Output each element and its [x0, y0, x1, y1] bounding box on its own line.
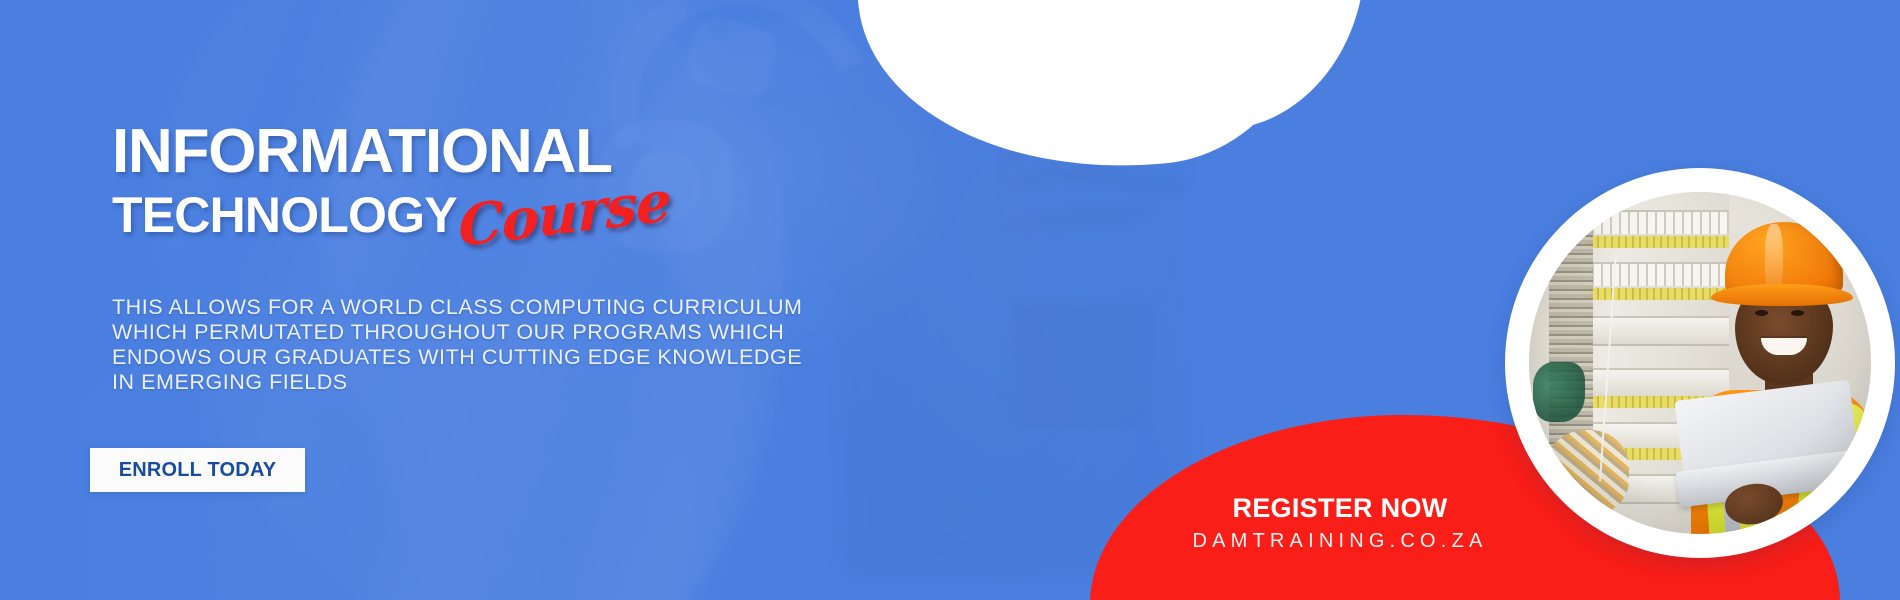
description-line-4: IN EMERGING FIELDS: [112, 370, 992, 395]
website-url[interactable]: DAMTRAINING.CO.ZA: [1140, 526, 1540, 556]
headline-line-2: TECHNOLOGY: [112, 187, 457, 243]
enroll-today-label: ENROLL TODAY: [119, 459, 277, 482]
description-line-2: WHICH PERMUTATED THROUGHOUT OUR PROGRAMS…: [112, 320, 992, 345]
eye-left: [1755, 310, 1768, 316]
register-block: REGISTER NOW DAMTRAINING.CO.ZA: [1140, 492, 1540, 556]
description-line-3: ENDOWS OUR GRADUATES WITH CUTTING EDGE K…: [112, 345, 992, 370]
register-now-title: REGISTER NOW: [1140, 492, 1540, 524]
it-course-banner: INFORMATIONAL TECHNOLOGY Course THIS ALL…: [0, 0, 1900, 600]
technician-photo: [1529, 192, 1871, 534]
hard-hat-brim: [1711, 284, 1853, 306]
headline-line-2-row: TECHNOLOGY Course: [112, 187, 1012, 251]
page-title: INFORMATIONAL TECHNOLOGY Course: [112, 123, 1012, 251]
enroll-today-button[interactable]: ENROLL TODAY: [90, 448, 305, 492]
content-column: INFORMATIONAL TECHNOLOGY Course THIS ALL…: [110, 0, 1040, 600]
headline-line-1: INFORMATIONAL: [112, 123, 1012, 181]
description-line-1: THIS ALLOWS FOR A WORLD CLASS COMPUTING …: [112, 295, 992, 320]
eye-right: [1791, 310, 1804, 316]
circular-photo-frame: [1505, 168, 1895, 558]
description-paragraph: THIS ALLOWS FOR A WORLD CLASS COMPUTING …: [112, 295, 992, 395]
